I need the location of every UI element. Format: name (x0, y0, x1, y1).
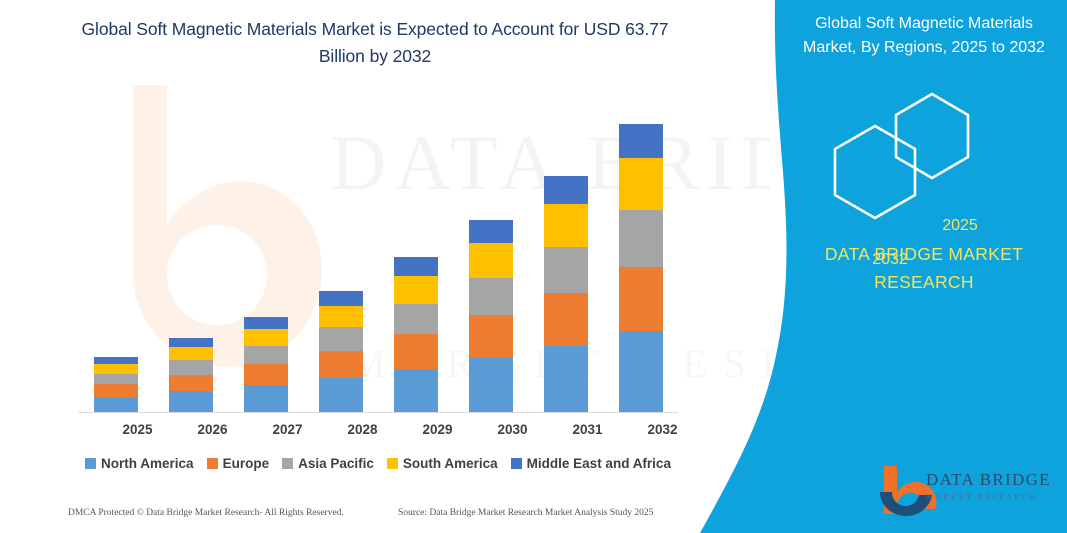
legend-item[interactable]: Middle East and Africa (511, 456, 671, 471)
bar-segment[interactable] (394, 369, 438, 412)
logo-subtitle: MARKET RESEARCH (926, 492, 1066, 501)
bar-segment[interactable] (469, 358, 513, 412)
chart-legend: North AmericaEuropeAsia PacificSouth Ame… (78, 456, 678, 471)
hexagon-outlines-icon (820, 88, 1050, 228)
bar-group[interactable] (169, 338, 213, 412)
bar-segment[interactable] (394, 304, 438, 334)
footer-copyright: DMCA Protected © Data Bridge Market Rese… (68, 508, 398, 518)
bar-segment[interactable] (94, 384, 138, 396)
bar-group[interactable] (319, 291, 363, 412)
bar-group[interactable] (469, 220, 513, 412)
panel-title: Global Soft Magnetic Materials Market, B… (790, 12, 1058, 60)
bar-segment[interactable] (469, 278, 513, 316)
legend-item[interactable]: North America (85, 456, 194, 471)
x-axis-labels: 20252026202720282029203020312032 (78, 422, 678, 442)
chart-area (78, 96, 678, 414)
bar-segment[interactable] (394, 257, 438, 276)
legend-swatch-icon (85, 458, 96, 469)
bar-segment[interactable] (244, 329, 288, 346)
legend-item[interactable]: South America (387, 456, 498, 471)
legend-label: Middle East and Africa (527, 456, 671, 471)
x-axis-label: 2026 (178, 422, 248, 437)
hexagon-badges: 2025 2032 (820, 88, 1050, 228)
x-axis-label: 2028 (328, 422, 398, 437)
bar-segment[interactable] (619, 331, 663, 412)
footer-source: Source: Data Bridge Market Research Mark… (398, 508, 688, 518)
legend-swatch-icon (511, 458, 522, 469)
bar-segment[interactable] (169, 375, 213, 392)
x-axis-label: 2029 (403, 422, 473, 437)
bar-segment[interactable] (544, 247, 588, 293)
bar-group[interactable] (94, 357, 138, 412)
bar-segment[interactable] (319, 291, 363, 305)
bar-segment[interactable] (244, 364, 288, 385)
hexagon-label-near: 2025 (920, 217, 1000, 235)
bar-segment[interactable] (319, 306, 363, 328)
bar-segment[interactable] (544, 346, 588, 412)
legend-item[interactable]: Asia Pacific (282, 456, 374, 471)
x-axis-line (78, 412, 678, 413)
bar-segment[interactable] (244, 317, 288, 328)
bar-segment[interactable] (544, 293, 588, 346)
bar-group[interactable] (619, 124, 663, 412)
data-bridge-logo: DATA BRIDGE MARKET RESEARCH (878, 462, 1063, 518)
bar-segment[interactable] (619, 124, 663, 158)
bar-segment[interactable] (94, 364, 138, 374)
bar-group[interactable] (244, 317, 288, 412)
bar-group[interactable] (394, 257, 438, 412)
bar-segment[interactable] (169, 347, 213, 361)
bar-segment[interactable] (469, 315, 513, 358)
bar-segment[interactable] (544, 204, 588, 246)
legend-swatch-icon (387, 458, 398, 469)
x-axis-label: 2025 (103, 422, 173, 437)
bar-segment[interactable] (619, 267, 663, 332)
bar-segment[interactable] (94, 374, 138, 385)
legend-label: South America (403, 456, 498, 471)
legend-label: North America (101, 456, 194, 471)
bar-segment[interactable] (169, 338, 213, 347)
bar-segment[interactable] (319, 378, 363, 412)
x-axis-label: 2031 (553, 422, 623, 437)
legend-item[interactable]: Europe (207, 456, 270, 471)
bar-segment[interactable] (244, 385, 288, 412)
logo-title: DATA BRIDGE (926, 470, 1066, 490)
infographic-root: DATA BRIDGE MARKET RESEARCH Global Soft … (0, 0, 1067, 533)
bar-segment[interactable] (94, 397, 138, 412)
legend-swatch-icon (282, 458, 293, 469)
bar-segment[interactable] (169, 360, 213, 374)
x-axis-label: 2027 (253, 422, 323, 437)
bar-group[interactable] (544, 176, 588, 412)
bar-segment[interactable] (619, 210, 663, 267)
bar-segment[interactable] (319, 327, 363, 351)
bar-segment[interactable] (319, 351, 363, 378)
bar-segment[interactable] (469, 243, 513, 278)
bar-segment[interactable] (544, 176, 588, 204)
legend-label: Asia Pacific (298, 456, 374, 471)
bar-segment[interactable] (394, 276, 438, 304)
bar-segment[interactable] (94, 357, 138, 364)
brand-name: DATA BRIDGE MARKET RESEARCH (790, 240, 1058, 296)
x-axis-label: 2030 (478, 422, 548, 437)
bar-segment[interactable] (619, 158, 663, 210)
x-axis-label: 2032 (628, 422, 698, 437)
logo-text: DATA BRIDGE MARKET RESEARCH (926, 470, 1066, 501)
chart-title: Global Soft Magnetic Materials Market is… (60, 16, 690, 70)
bar-segment[interactable] (394, 334, 438, 369)
plot-bars (78, 96, 678, 412)
legend-label: Europe (223, 456, 270, 471)
bar-segment[interactable] (469, 220, 513, 243)
legend-swatch-icon (207, 458, 218, 469)
footer: DMCA Protected © Data Bridge Market Rese… (68, 508, 688, 518)
bar-segment[interactable] (244, 346, 288, 365)
bar-segment[interactable] (169, 391, 213, 412)
